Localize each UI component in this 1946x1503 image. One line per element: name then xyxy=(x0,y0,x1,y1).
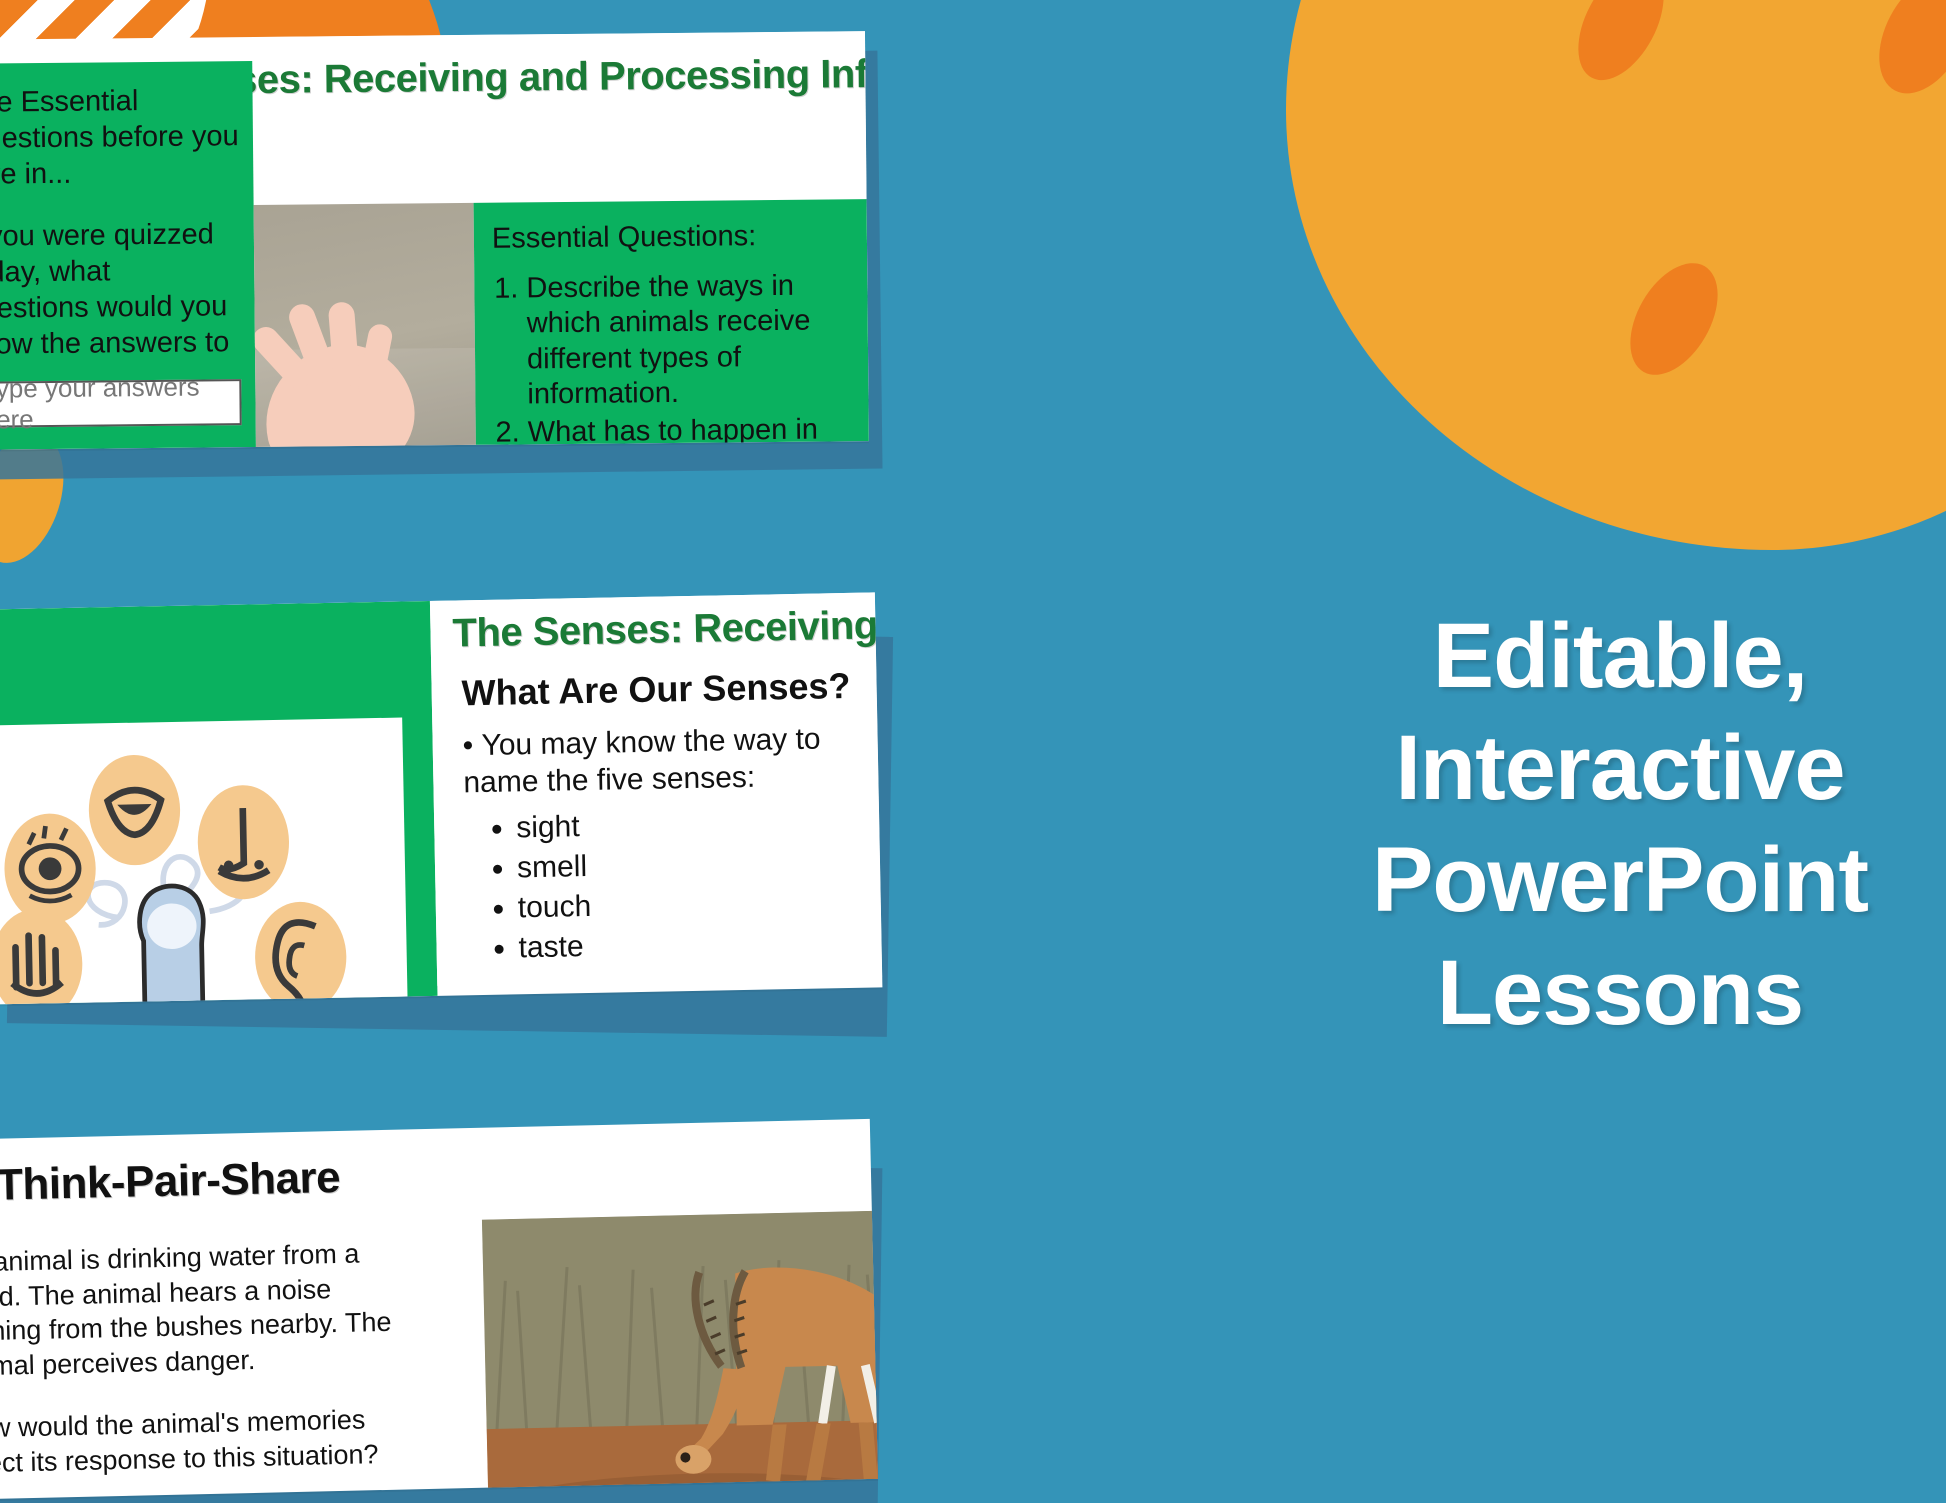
slide-essential-questions[interactable]: The Senses: Receiving and Processing Inf… xyxy=(0,31,869,450)
paragraph-scenario: An animal is drinking water from a pond.… xyxy=(0,1235,415,1384)
prompt-one: If you were quizzed today, what question… xyxy=(0,217,241,363)
slide-body: An animal is drinking water from a pond.… xyxy=(0,1235,420,1500)
slide-card-3[interactable]: Think-Pair-Share An animal is drinking w… xyxy=(0,1140,940,1503)
slide-title-bar: The Senses: Receiving and Processing Inf… xyxy=(252,31,867,205)
orange-dot xyxy=(1612,248,1735,390)
list-item: smell xyxy=(517,841,881,888)
orange-dot xyxy=(1561,0,1681,94)
orange-dot xyxy=(1861,0,1946,109)
five-senses-diagram xyxy=(0,718,408,1005)
slide-subheading: What Are Our Senses? xyxy=(461,664,877,714)
senses-list: sight smell touch taste xyxy=(516,802,882,969)
paragraph-question: How would the animal's memories affect i… xyxy=(0,1401,418,1481)
answer-input-1[interactable]: Type your answers here xyxy=(0,379,242,428)
finger-shape xyxy=(328,301,361,387)
intro-bullet: • You may know the way to name the five … xyxy=(462,720,878,801)
slide-title: The Senses: Receiving and Processing Inf… xyxy=(452,604,876,654)
eye-icon xyxy=(3,813,96,925)
mouth-icon xyxy=(88,754,181,866)
answer-placeholder: Type your answers here xyxy=(0,371,240,435)
list-item: taste xyxy=(518,921,882,968)
slide-right-content: The Senses: Receiving and Processing Inf… xyxy=(430,592,882,985)
panel-heading: The Essential Questions before you dive … xyxy=(0,83,239,194)
list-item: sight xyxy=(516,802,880,849)
headline-line-1: Editable, xyxy=(1290,600,1946,712)
slide-card-1[interactable]: The Senses: Receiving and Processing Inf… xyxy=(0,40,940,460)
hand-on-sand-photo xyxy=(254,203,476,447)
slide-title: Think-Pair-Share xyxy=(0,1141,871,1211)
headline-line-4: Lessons xyxy=(1290,937,1946,1049)
amber-blob xyxy=(1286,0,1946,550)
headline-line-2: Interactive xyxy=(1290,712,1946,824)
headline-line-3: PowerPoint xyxy=(1290,824,1946,936)
decoration-top-right xyxy=(1286,0,1946,550)
list-item: touch xyxy=(517,881,881,928)
list-item: Describe the ways in which animals recei… xyxy=(526,268,858,413)
impala-drinking-photo xyxy=(482,1210,878,1500)
slide-what-are-our-senses[interactable]: The Senses: Receiving and Processing Inf… xyxy=(0,592,882,1004)
essential-questions-heading: Essential Questions: xyxy=(492,219,857,256)
essential-questions-list: Describe the ways in which animals recei… xyxy=(526,268,859,450)
slide-think-pair-share[interactable]: Think-Pair-Share An animal is drinking w… xyxy=(0,1119,878,1500)
slide-left-panel: The Essential Questions before you dive … xyxy=(0,61,256,450)
essential-questions-panel: Essential Questions: Describe the ways i… xyxy=(474,199,869,445)
slide-left-green-panel xyxy=(0,601,437,1005)
hand-icon xyxy=(0,908,83,1005)
promo-headline: Editable, Interactive PowerPoint Lessons xyxy=(1290,600,1946,1049)
ear-icon xyxy=(254,901,347,1005)
intro-bullet-text: You may know the way to name the five se… xyxy=(463,723,821,799)
slide-card-2[interactable]: The Senses: Receiving and Processing Inf… xyxy=(0,610,960,1030)
nose-icon xyxy=(197,784,290,900)
